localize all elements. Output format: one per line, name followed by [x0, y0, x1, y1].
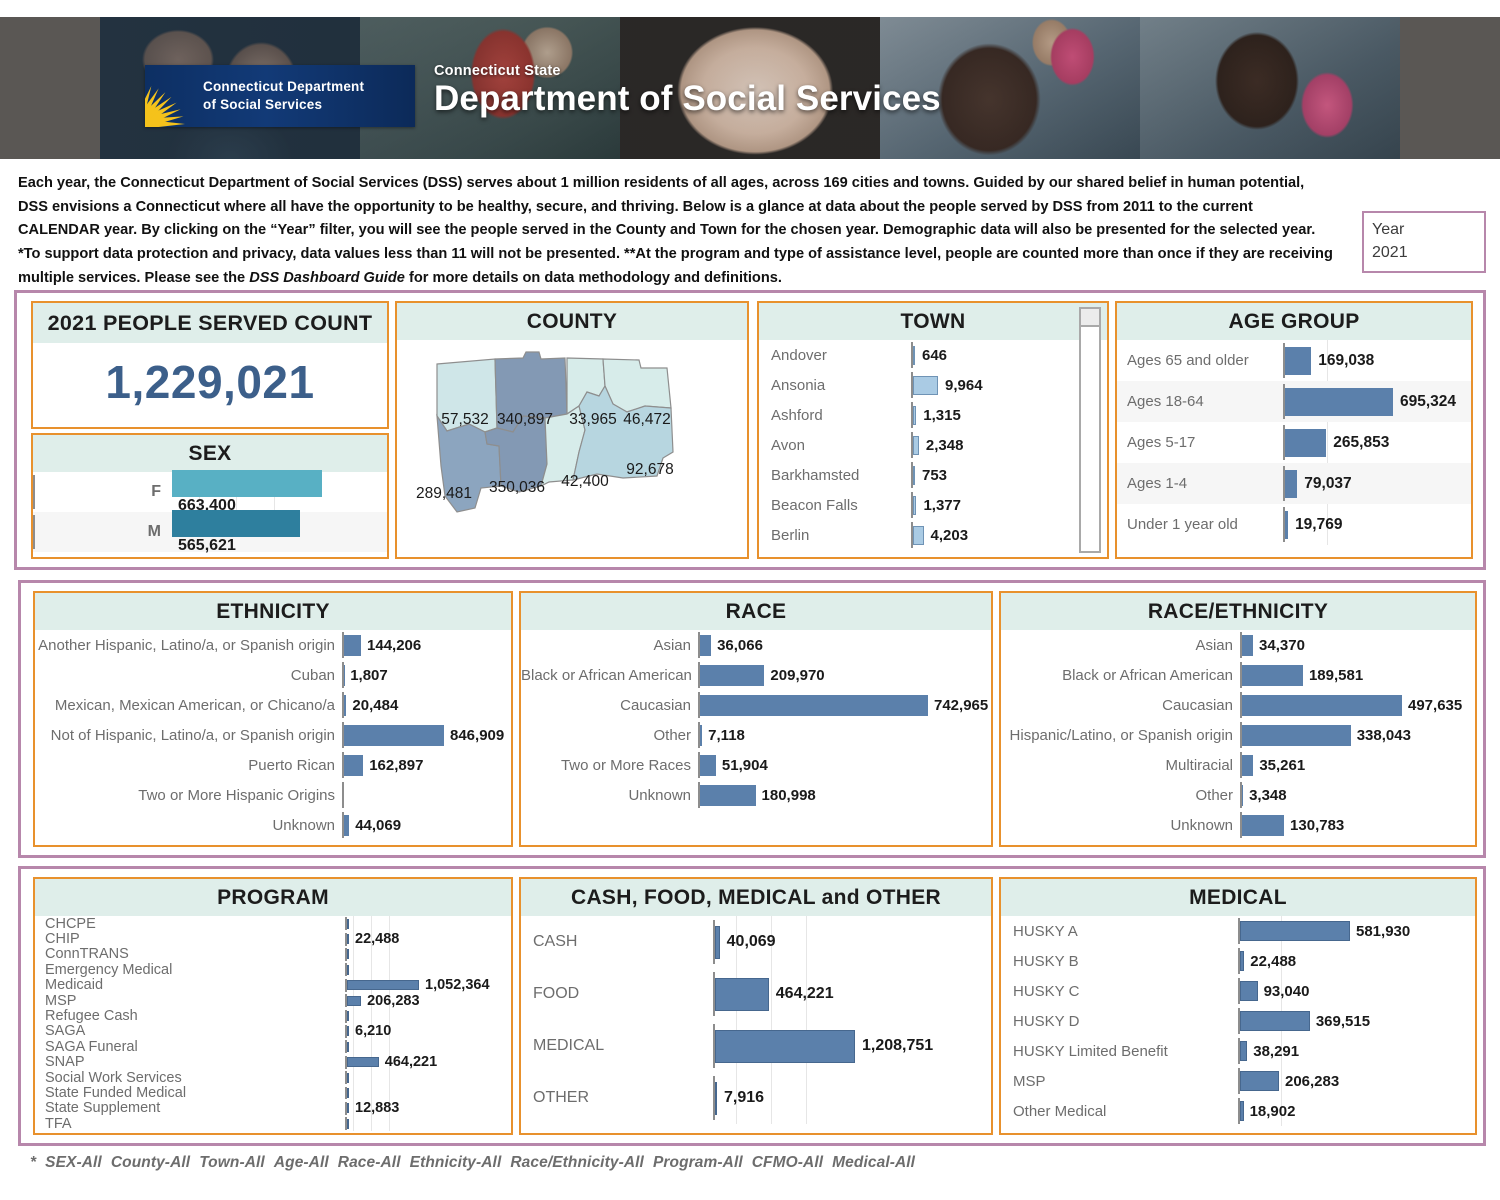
chart-bar[interactable] [1242, 815, 1284, 836]
chart-value-label: 4,203 [924, 527, 969, 544]
axis-zero-line [345, 1117, 347, 1130]
chart-value-label: 36,066 [711, 637, 763, 654]
chart-row[interactable]: Caucasian742,965 [521, 690, 991, 720]
chart-row[interactable]: Under 1 year old19,769 [1117, 504, 1471, 545]
chart-row-track: 180,998 [698, 780, 991, 810]
chart-row[interactable]: Unknown130,783 [1001, 810, 1475, 840]
chart-row-label: State Supplement [35, 1100, 345, 1116]
chart-bar[interactable] [1240, 1041, 1247, 1061]
race-title: RACE [521, 593, 991, 630]
chart-row-label: Unknown [1001, 817, 1240, 834]
county-title: COUNTY [397, 303, 747, 340]
chart-row-label: HUSKY Limited Benefit [1001, 1043, 1238, 1060]
chart-row-label: FOOD [521, 985, 713, 1003]
cfmo-chart: CASH40,069FOOD464,221MEDICAL1,208,751OTH… [521, 916, 991, 1124]
chart-row[interactable]: Asian34,370 [1001, 630, 1475, 660]
axis-zero-line [1238, 1098, 1240, 1123]
chart-row-track: 130,783 [1240, 810, 1475, 840]
chart-value-label: 753 [915, 467, 947, 484]
chart-value-label: 1,208,751 [855, 1037, 933, 1055]
chart-row-label: Two or More Hispanic Origins [35, 787, 342, 804]
axis-zero-line [698, 752, 700, 777]
chart-value-label: 7,118 [702, 727, 745, 744]
chart-row[interactable]: State Funded Medical [35, 1085, 511, 1100]
chart-row-track: 51,904 [698, 750, 991, 780]
chart-value-label: 22,488 [349, 931, 399, 947]
chart-bar[interactable] [347, 980, 419, 990]
chart-row-label: Black or African American [521, 667, 698, 684]
chart-value-label: 189,581 [1303, 667, 1363, 684]
axis-zero-line [911, 432, 913, 457]
axis-zero-line [342, 722, 344, 747]
race-ethnicity-chart: Asian34,370Black or African American189,… [1001, 630, 1475, 840]
chart-row[interactable]: MEDICAL1,208,751 [521, 1020, 991, 1072]
chart-value-label: 35,261 [1253, 757, 1305, 774]
axis-zero-line [1238, 918, 1240, 943]
chart-row-label: Not of Hispanic, Latino/a, or Spanish or… [35, 727, 342, 744]
chart-row[interactable]: Ansonia9,964 [759, 370, 1107, 400]
town-title: TOWN [759, 303, 1107, 340]
dashboard-row-3: PROGRAM CHCPECHIP22,488ConnTRANSEmergenc… [18, 866, 1486, 1146]
sex-title: SEX [33, 435, 387, 472]
chart-value-label: 144,206 [361, 637, 421, 654]
chart-row[interactable]: CASH40,069 [521, 916, 991, 968]
axis-zero-line [345, 1056, 347, 1069]
axis-zero-line [698, 692, 700, 717]
axis-zero-line [345, 1102, 347, 1115]
connecticut-map-svg [427, 346, 717, 531]
chart-value-label: 206,283 [1279, 1073, 1339, 1090]
race-panel: RACE Asian36,066Black or African America… [519, 591, 993, 847]
chart-row[interactable]: Two or More Races51,904 [521, 750, 991, 780]
chart-bar[interactable] [347, 1011, 349, 1021]
chart-row-label: ConnTRANS [35, 946, 345, 962]
chart-row-track: 189,581 [1240, 660, 1475, 690]
chart-row-track [345, 1008, 511, 1023]
chart-value-label: 93,040 [1258, 983, 1310, 1000]
footer-filter-item[interactable]: County-All [111, 1154, 190, 1171]
chart-row-label: Barkhamsted [759, 467, 911, 484]
chart-row[interactable]: Other7,118 [521, 720, 991, 750]
chart-row[interactable]: Unknown44,069 [35, 810, 511, 840]
chart-row[interactable]: Social Work Services [35, 1070, 511, 1085]
year-filter[interactable]: Year 2021 [1362, 211, 1486, 273]
axis-zero-line [911, 402, 913, 427]
dashboard-guide-link[interactable]: DSS Dashboard Guide [249, 270, 405, 286]
chart-row-track: 695,324 [1283, 381, 1471, 422]
chart-value-label: 51,904 [716, 757, 768, 774]
chart-bar[interactable] [1285, 347, 1311, 375]
race-ethnicity-panel: RACE/ETHNICITY Asian34,370Black or Afric… [999, 591, 1477, 847]
chart-bar[interactable] [172, 510, 300, 537]
chart-row-label: Unknown [35, 817, 342, 834]
chart-row-track: 265,853 [1283, 422, 1471, 463]
chart-row[interactable]: SAGA6,210 [35, 1024, 511, 1039]
chart-row[interactable]: OTHER7,916 [521, 1072, 991, 1124]
chart-row[interactable]: HUSKY Limited Benefit38,291 [1001, 1036, 1475, 1066]
chart-row-track: 1,807 [342, 660, 511, 690]
footer-filter-item[interactable]: Medical-All [832, 1154, 915, 1171]
chart-value-label: 38,291 [1247, 1043, 1299, 1060]
chart-row-track: 144,206 [342, 630, 511, 660]
people-served-panel: 2021 PEOPLE SERVED COUNT 1,229,021 [31, 301, 389, 429]
chart-row-label: HUSKY A [1001, 923, 1238, 940]
chart-row[interactable]: Ages 1-479,037 [1117, 463, 1471, 504]
chart-bar[interactable] [344, 725, 444, 746]
chart-row-label: SAGA [35, 1023, 345, 1039]
chart-row[interactable]: HUSKY A581,930 [1001, 916, 1475, 946]
chart-row[interactable]: Cuban1,807 [35, 660, 511, 690]
chart-row[interactable]: TFA [35, 1116, 511, 1131]
chart-value-label: 34,370 [1253, 637, 1305, 654]
chart-bar[interactable] [1240, 1071, 1279, 1091]
chart-row[interactable]: Medicaid1,052,364 [35, 978, 511, 993]
chart-row[interactable]: Caucasian497,635 [1001, 690, 1475, 720]
chart-bar[interactable] [1285, 388, 1393, 416]
chart-row-track: 22,488 [1238, 946, 1475, 976]
chart-value-label: 18,902 [1244, 1103, 1296, 1120]
chart-row-label: CASH [521, 933, 713, 951]
chart-row-label: HUSKY C [1001, 983, 1238, 1000]
axis-zero-line [1283, 466, 1285, 500]
chart-bar[interactable] [700, 665, 764, 686]
chart-row[interactable]: Puerto Rican162,897 [35, 750, 511, 780]
chart-row[interactable]: FOOD464,221 [521, 968, 991, 1020]
axis-zero-line [342, 782, 344, 807]
chart-value-label: 338,043 [1351, 727, 1411, 744]
ethnicity-title: ETHNICITY [35, 593, 511, 630]
chart-bar[interactable] [1242, 635, 1253, 656]
axis-zero-line [911, 342, 913, 367]
chart-bar[interactable] [913, 526, 924, 545]
chart-bar[interactable] [1242, 725, 1351, 746]
chart-value-label: 19,769 [1288, 516, 1342, 534]
chart-row-label: State Funded Medical [35, 1085, 345, 1101]
chart-row[interactable]: Hispanic/Latino, or Spanish origin338,04… [1001, 720, 1475, 750]
chart-row-track [345, 1116, 511, 1131]
chart-row[interactable]: Not of Hispanic, Latino/a, or Spanish or… [35, 720, 511, 750]
town-scrollbar-thumb[interactable] [1081, 309, 1099, 327]
chart-bar[interactable] [347, 1119, 349, 1129]
chart-value-label: 2,348 [919, 437, 964, 454]
chart-row-label: Ansonia [759, 377, 911, 394]
chart-row-label: HUSKY B [1001, 953, 1238, 970]
chart-row-label: Ages 65 and older [1117, 352, 1283, 369]
sex-chart: F663,400M565,621 [33, 472, 387, 552]
chart-bar[interactable] [347, 1042, 349, 1052]
chart-row[interactable]: Ashford1,315 [759, 400, 1107, 430]
chart-row[interactable]: MSP206,283 [35, 993, 511, 1008]
axis-zero-line [1283, 343, 1285, 377]
chart-bar[interactable] [700, 695, 928, 716]
age-group-title: AGE GROUP [1117, 303, 1471, 340]
chart-row[interactable]: Multiracial35,261 [1001, 750, 1475, 780]
chart-row-track: 19,769 [1283, 504, 1471, 545]
chart-row-label: Mexican, Mexican American, or Chicano/a [35, 697, 342, 714]
axis-zero-line [1283, 507, 1285, 541]
chart-row-label: Puerto Rican [35, 757, 342, 774]
chart-bar[interactable] [347, 1073, 349, 1083]
chart-row-track: 18,902 [1238, 1096, 1475, 1126]
active-filters-footer: *SEX-AllCounty-AllTown-AllAge-AllRace-Al… [30, 1154, 924, 1172]
axis-zero-line [345, 1010, 347, 1023]
axis-zero-line [345, 1071, 347, 1084]
chart-row[interactable]: CHIP22,488 [35, 931, 511, 946]
axis-zero-line [1238, 1038, 1240, 1063]
axis-zero-line [713, 920, 715, 964]
chart-row[interactable]: Other3,348 [1001, 780, 1475, 810]
axis-zero-line [342, 632, 344, 657]
race-ethnicity-title: RACE/ETHNICITY [1001, 593, 1475, 630]
chart-bar[interactable] [344, 635, 361, 656]
chart-value-label: 7,916 [717, 1089, 764, 1107]
chart-row-track: 1,315 [911, 400, 1107, 430]
county-choropleth-map[interactable]: 57,532340,89733,96546,472289,481350,0364… [397, 340, 747, 546]
chart-row-label: Ages 5-17 [1117, 434, 1283, 451]
chart-row[interactable]: HUSKY D369,515 [1001, 1006, 1475, 1036]
chart-row-track: 464,221 [345, 1055, 511, 1070]
people-served-title: 2021 PEOPLE SERVED COUNT [33, 303, 387, 343]
chart-row-label: Other [1001, 787, 1240, 804]
chart-row-track: 169,038 [1283, 340, 1471, 381]
chart-bar[interactable] [1240, 1011, 1310, 1031]
county-value-hartford: 340,897 [497, 411, 553, 429]
axis-zero-line [698, 632, 700, 657]
axis-zero-line [1238, 948, 1240, 973]
sunburst-icon [145, 65, 197, 127]
chart-row-label: Multiracial [1001, 757, 1240, 774]
year-filter-value[interactable]: 2021 [1372, 241, 1476, 264]
axis-zero-line [33, 515, 35, 549]
footer-filter-item[interactable]: Race/Ethnicity-All [510, 1154, 644, 1171]
axis-zero-line [345, 933, 347, 946]
axis-zero-line [1240, 752, 1242, 777]
chart-row-label: MSP [1001, 1073, 1238, 1090]
chart-row-track [345, 947, 511, 962]
banner-subtitle: Connecticut State [434, 63, 941, 79]
chart-row-track: 4,203 [911, 520, 1107, 550]
county-panel: COUNTY 57,532340,89733,96546,472289,4813… [395, 301, 749, 559]
axis-zero-line [342, 752, 344, 777]
chart-row-label: M [33, 523, 170, 541]
axis-zero-line [345, 917, 347, 930]
chart-row-label: TFA [35, 1116, 345, 1132]
county-value-windham: 46,472 [623, 411, 670, 429]
chart-row[interactable]: Barkhamsted753 [759, 460, 1107, 490]
chart-row-track: 12,883 [345, 1101, 511, 1116]
chart-row-label: SNAP [35, 1054, 345, 1070]
town-scrollbar[interactable] [1079, 307, 1101, 553]
chart-row[interactable]: Asian36,066 [521, 630, 991, 660]
footer-filter-item[interactable]: Ethnicity-All [410, 1154, 502, 1171]
chart-bar[interactable] [1240, 921, 1350, 941]
chart-row[interactable]: HUSKY C93,040 [1001, 976, 1475, 1006]
chart-row-label: Other Medical [1001, 1103, 1238, 1120]
chart-bar[interactable] [700, 635, 711, 656]
chart-row-track [342, 780, 511, 810]
chart-row-label: Other [521, 727, 698, 744]
chart-row-label: Emergency Medical [35, 962, 345, 978]
chart-bar[interactable] [700, 755, 716, 776]
chart-bar[interactable] [1285, 470, 1297, 498]
chart-row[interactable]: F663,400 [33, 472, 387, 512]
intro-paragraph: Each year, the Connecticut Department of… [18, 172, 1338, 290]
chart-row[interactable]: CHCPE [35, 916, 511, 931]
chart-row[interactable]: SNAP464,221 [35, 1055, 511, 1070]
chart-value-label: 464,221 [769, 985, 834, 1003]
chart-bar[interactable] [1242, 695, 1402, 716]
axis-zero-line [345, 994, 347, 1007]
axis-zero-line [1240, 722, 1242, 747]
chart-row-track: 34,370 [1240, 630, 1475, 660]
footer-filter-item[interactable]: Program-All [653, 1154, 743, 1171]
chart-value-label: 464,221 [379, 1054, 437, 1070]
axis-zero-line [1240, 692, 1242, 717]
chart-bar[interactable] [913, 376, 938, 395]
chart-value-label: 369,515 [1310, 1013, 1370, 1030]
chart-row-label: Hispanic/Latino, or Spanish origin [1001, 727, 1240, 744]
chart-bar[interactable] [347, 919, 349, 929]
chart-row-track: 497,635 [1240, 690, 1475, 720]
chart-row[interactable]: Ages 5-17265,853 [1117, 422, 1471, 463]
chart-row-label: MSP [35, 993, 345, 1009]
people-served-value: 1,229,021 [33, 343, 387, 409]
axis-zero-line [345, 948, 347, 961]
axis-zero-line [342, 692, 344, 717]
chart-value-label: 180,998 [756, 787, 816, 804]
axis-zero-line [345, 963, 347, 976]
footer-filter-item[interactable]: Age-All [274, 1154, 329, 1171]
chart-row-track: 44,069 [342, 810, 511, 840]
chart-row-track: 162,897 [342, 750, 511, 780]
chart-row-track: 369,515 [1238, 1006, 1475, 1036]
chart-value-label: 206,283 [361, 993, 419, 1009]
chart-value-label: 1,052,364 [419, 977, 490, 993]
chart-row[interactable]: State Supplement12,883 [35, 1101, 511, 1116]
chart-row[interactable]: Ages 65 and older169,038 [1117, 340, 1471, 381]
chart-row-track: 36,066 [698, 630, 991, 660]
chart-row-label: Ages 1-4 [1117, 475, 1283, 492]
chart-bar[interactable] [172, 470, 322, 497]
footer-filter-item[interactable]: CFMO-All [752, 1154, 823, 1171]
chart-row-label: Ages 18-64 [1117, 393, 1283, 410]
chart-row-label: Under 1 year old [1117, 516, 1283, 533]
medical-chart: HUSKY A581,930HUSKY B22,488HUSKY C93,040… [1001, 916, 1475, 1126]
chart-row[interactable]: Two or More Hispanic Origins [35, 780, 511, 810]
logo-line-1: Connecticut Department [203, 78, 364, 96]
town-panel: TOWN Andover646Ansonia9,964Ashford1,315A… [757, 301, 1109, 559]
chart-row-label: SAGA Funeral [35, 1039, 345, 1055]
axis-zero-line [345, 1040, 347, 1053]
chart-row-track: 338,043 [1240, 720, 1475, 750]
chart-bar[interactable] [347, 996, 361, 1006]
chart-value-label: 497,635 [1402, 697, 1462, 714]
chart-row[interactable]: Avon2,348 [759, 430, 1107, 460]
chart-row[interactable]: SAGA Funeral [35, 1039, 511, 1054]
chart-bar[interactable] [1285, 429, 1326, 457]
chart-row-label: Cuban [35, 667, 342, 684]
chart-row[interactable]: Emergency Medical [35, 962, 511, 977]
chart-bar[interactable] [715, 978, 769, 1011]
footer-filter-item[interactable]: Race-All [338, 1154, 401, 1171]
chart-row[interactable]: ConnTRANS [35, 947, 511, 962]
chart-bar[interactable] [347, 965, 349, 975]
chart-bar[interactable] [1242, 755, 1253, 776]
chart-row[interactable]: Another Hispanic, Latino/a, or Spanish o… [35, 630, 511, 660]
chart-bar[interactable] [700, 785, 756, 806]
dashboard-row-2: ETHNICITY Another Hispanic, Latino/a, or… [18, 580, 1486, 858]
chart-row[interactable]: Black or African American209,970 [521, 660, 991, 690]
chart-row[interactable]: Refugee Cash [35, 1008, 511, 1023]
footer-filter-item[interactable]: Town-All [199, 1154, 265, 1171]
chart-value-label: 209,970 [764, 667, 824, 684]
chart-row[interactable]: Andover646 [759, 340, 1107, 370]
chart-bar[interactable] [347, 949, 349, 959]
cfmo-panel: CASH, FOOD, MEDICAL and OTHER CASH40,069… [519, 877, 993, 1135]
chart-bar[interactable] [344, 755, 363, 776]
axis-zero-line [713, 972, 715, 1016]
chart-bar[interactable] [1240, 981, 1258, 1001]
chart-row[interactable]: Beacon Falls1,377 [759, 490, 1107, 520]
chart-value-label: 162,897 [363, 757, 423, 774]
axis-zero-line [342, 662, 344, 687]
chart-row[interactable]: Berlin4,203 [759, 520, 1107, 550]
axis-zero-line [1240, 782, 1242, 807]
chart-bar[interactable] [347, 1088, 349, 1098]
program-title: PROGRAM [35, 879, 511, 916]
banner-title: Department of Social Services [434, 80, 941, 119]
chart-bar[interactable] [715, 1030, 855, 1063]
town-chart: Andover646Ansonia9,964Ashford1,315Avon2,… [759, 340, 1107, 550]
chart-row-label: Social Work Services [35, 1070, 345, 1086]
footer-filter-item[interactable]: SEX-All [45, 1154, 102, 1171]
axis-zero-line [1238, 978, 1240, 1003]
chart-value-label: 3,348 [1243, 787, 1287, 804]
ethnicity-panel: ETHNICITY Another Hispanic, Latino/a, or… [33, 591, 513, 847]
chart-row-track: 1,377 [911, 490, 1107, 520]
chart-row-label: Andover [759, 347, 911, 364]
chart-row[interactable]: Ages 18-64695,324 [1117, 381, 1471, 422]
chart-value-label: 22,488 [1244, 953, 1296, 970]
chart-row[interactable]: HUSKY B22,488 [1001, 946, 1475, 976]
footer-asterisk: * [30, 1154, 36, 1171]
ethnicity-chart: Another Hispanic, Latino/a, or Spanish o… [35, 630, 511, 840]
chart-value-label: 846,909 [444, 727, 504, 744]
chart-row[interactable]: Mexican, Mexican American, or Chicano/a2… [35, 690, 511, 720]
axis-zero-line [911, 372, 913, 397]
age-group-panel: AGE GROUP Ages 65 and older169,038Ages 1… [1115, 301, 1473, 559]
chart-row[interactable]: MSP206,283 [1001, 1066, 1475, 1096]
chart-row-track: 79,037 [1283, 463, 1471, 504]
chart-row-label: CHCPE [35, 916, 345, 932]
chart-row-label: Caucasian [1001, 697, 1240, 714]
chart-row[interactable]: Unknown180,998 [521, 780, 991, 810]
chart-row-track [345, 1085, 511, 1100]
axis-zero-line [1283, 384, 1285, 418]
logo-line-2: of Social Services [203, 96, 364, 114]
chart-row-track: 38,291 [1238, 1036, 1475, 1066]
chart-bar[interactable] [1242, 665, 1303, 686]
race-chart: Asian36,066Black or African American209,… [521, 630, 991, 810]
chart-value-label: 6,210 [349, 1023, 391, 1039]
intro-text-part2: for more details on data methodology and… [405, 270, 782, 286]
chart-row[interactable]: Black or African American189,581 [1001, 660, 1475, 690]
chart-row-label: Beacon Falls [759, 497, 911, 514]
chart-value-label: 9,964 [938, 377, 983, 394]
chart-bar[interactable] [347, 1057, 379, 1067]
chart-row[interactable]: M565,621 [33, 512, 387, 552]
chart-row[interactable]: Other Medical18,902 [1001, 1096, 1475, 1126]
